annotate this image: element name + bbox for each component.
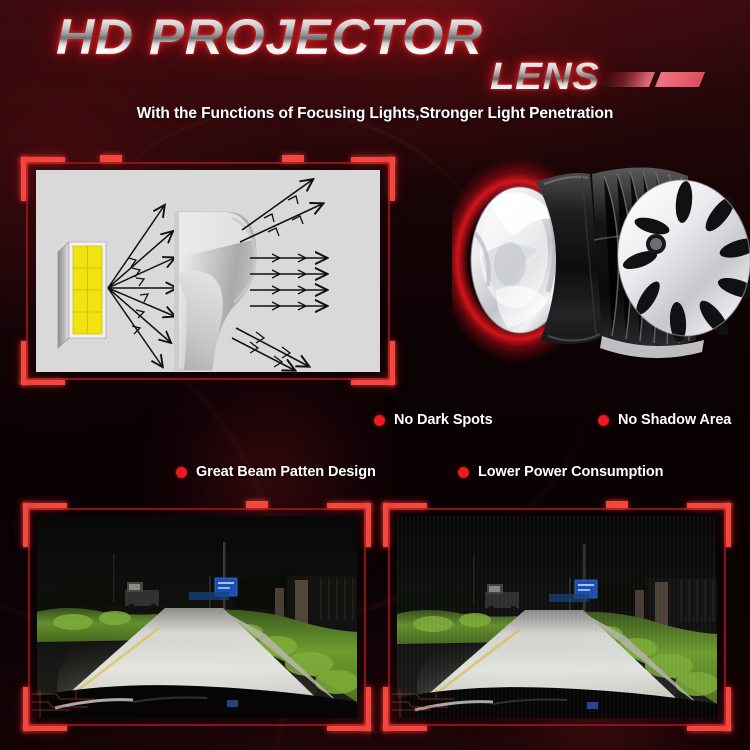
optical-diagram bbox=[36, 170, 380, 372]
projector-lens-reflector bbox=[174, 212, 256, 370]
bracket-nub bbox=[100, 155, 122, 162]
night-photo-frame-left bbox=[28, 508, 366, 726]
bracket-nub bbox=[282, 155, 304, 162]
ray-arrowheads bbox=[250, 332, 290, 367]
accent-stripe bbox=[601, 72, 655, 87]
feature-item: Great Beam Patten Design bbox=[176, 464, 376, 480]
feature-label: No Dark Spots bbox=[394, 412, 493, 428]
frame-edge-left bbox=[26, 162, 28, 380]
divergent-light-rays bbox=[108, 206, 176, 366]
bullet-dot-icon bbox=[458, 467, 469, 478]
led-chip bbox=[58, 242, 106, 348]
circuit-decoration bbox=[390, 688, 470, 722]
product-banner: HD PROJECTOR LENS With the Functions of … bbox=[0, 0, 750, 750]
lens-module-svg bbox=[452, 140, 750, 380]
bracket-nub bbox=[606, 501, 628, 508]
accent-stripe bbox=[655, 72, 705, 87]
feature-label: Lower Power Consumption bbox=[478, 464, 663, 480]
frame-edge-bottom bbox=[28, 724, 366, 726]
frame-edge-top bbox=[388, 508, 726, 510]
bullet-dot-icon bbox=[598, 415, 609, 426]
product-image-lens-module bbox=[452, 140, 750, 380]
frame-edge-top bbox=[28, 508, 366, 510]
circuit-decoration bbox=[30, 688, 110, 722]
feature-item: No Shadow Area bbox=[598, 412, 731, 428]
optical-diagram-svg bbox=[36, 170, 380, 372]
page-title: HD PROJECTOR bbox=[56, 8, 483, 66]
feature-label: No Shadow Area bbox=[618, 412, 731, 428]
collimated-parallel-rays bbox=[250, 258, 326, 306]
diagram-panel-frame bbox=[26, 162, 390, 380]
tagline: With the Functions of Focusing Lights,St… bbox=[0, 105, 750, 123]
frame-edge-bottom bbox=[26, 378, 390, 380]
feature-item: Lower Power Consumption bbox=[458, 464, 663, 480]
night-photo-frame-right bbox=[388, 508, 726, 726]
bracket-nub bbox=[246, 501, 268, 508]
header: HD PROJECTOR LENS With the Functions of … bbox=[0, 0, 750, 150]
frame-edge-bottom bbox=[388, 724, 726, 726]
bullet-dot-icon bbox=[374, 415, 385, 426]
ray-arrowheads bbox=[128, 258, 148, 334]
ray-arrowheads bbox=[272, 254, 306, 310]
frame-edge-top bbox=[26, 162, 390, 164]
bullet-dot-icon bbox=[176, 467, 187, 478]
feature-item: No Dark Spots bbox=[374, 412, 493, 428]
feature-label: Great Beam Patten Design bbox=[196, 464, 376, 480]
page-subtitle: LENS bbox=[490, 56, 600, 99]
lower-scatter-rays bbox=[232, 328, 308, 370]
